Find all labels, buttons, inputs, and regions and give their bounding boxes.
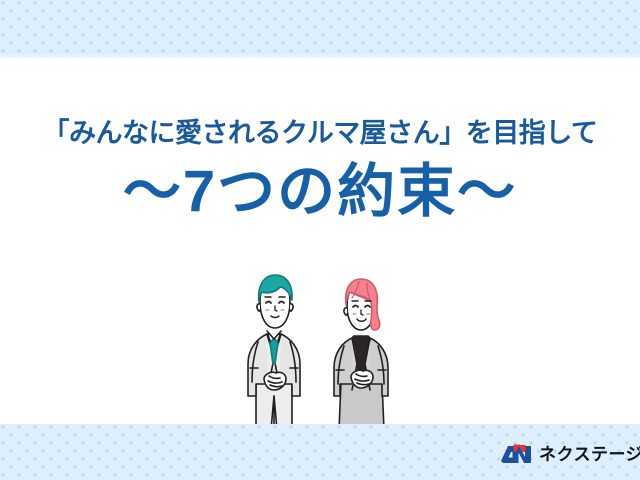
male-staff-figure — [248, 275, 300, 430]
nextage-n-logo-icon — [500, 443, 532, 466]
female-hands — [351, 370, 373, 388]
promo-banner: 「みんなに愛されるクルマ屋さん」を目指して 〜7つの約束〜 — [0, 0, 640, 480]
staff-illustration — [236, 272, 416, 432]
brand-logo: ネクステージ — [500, 440, 640, 468]
staff-illustration-svg — [236, 272, 416, 432]
dotted-band-top — [0, 0, 640, 58]
brand-logo-text: ネクステージ — [539, 446, 640, 463]
male-hands — [264, 372, 286, 390]
page-subtitle: 〜7つの約束〜 — [0, 162, 640, 223]
headline-block: 「みんなに愛されるクルマ屋さん」を目指して 〜7つの約束〜 — [0, 118, 640, 223]
female-staff-figure — [334, 279, 388, 430]
page-title: 「みんなに愛されるクルマ屋さん」を目指して — [0, 118, 640, 148]
